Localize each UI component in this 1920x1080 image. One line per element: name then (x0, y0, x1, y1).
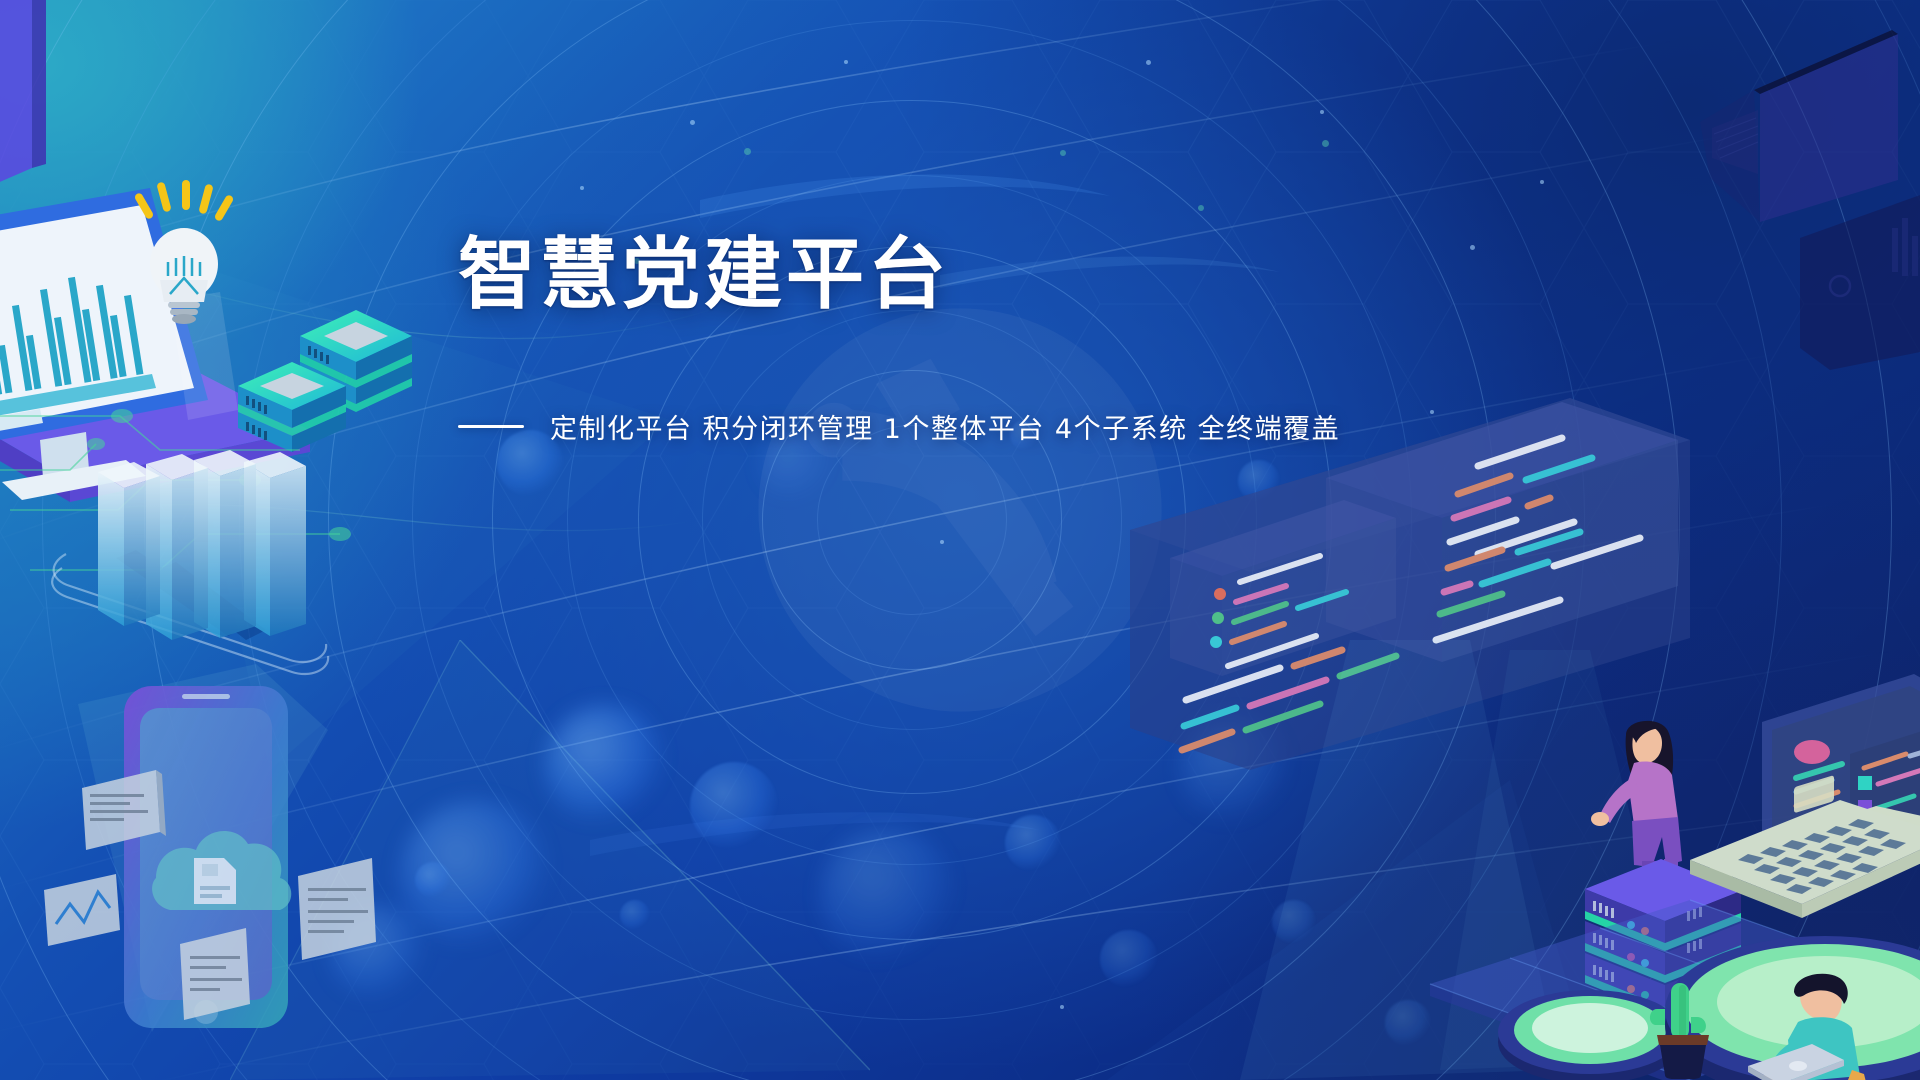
hero-banner: 智慧党建平台 定制化平台 积分闭环管理 1个整体平台 4个子系统 全终端覆盖 (0, 0, 1920, 1080)
isometric-smartphone-with-cloud-sync (60, 660, 380, 1060)
idea-lightbulb (118, 180, 248, 330)
dark-dashboard-panel-decor (1800, 170, 1920, 370)
page-title: 智慧党建平台 (458, 234, 950, 317)
subtitle-dash-icon (458, 425, 524, 428)
potted-cactus (1635, 975, 1725, 1080)
subtitle-row: 定制化平台 积分闭环管理 1个整体平台 4个子系统 全终端覆盖 (458, 407, 1340, 446)
isometric-open-laptop-keyboard (1690, 800, 1920, 940)
person-with-laptop (1748, 970, 1920, 1080)
isometric-3d-bar-chart (40, 430, 370, 680)
party-emblem-watermark (750, 300, 1170, 725)
page-subtitle: 定制化平台 积分闭环管理 1个整体平台 4个子系统 全终端覆盖 (550, 407, 1340, 446)
